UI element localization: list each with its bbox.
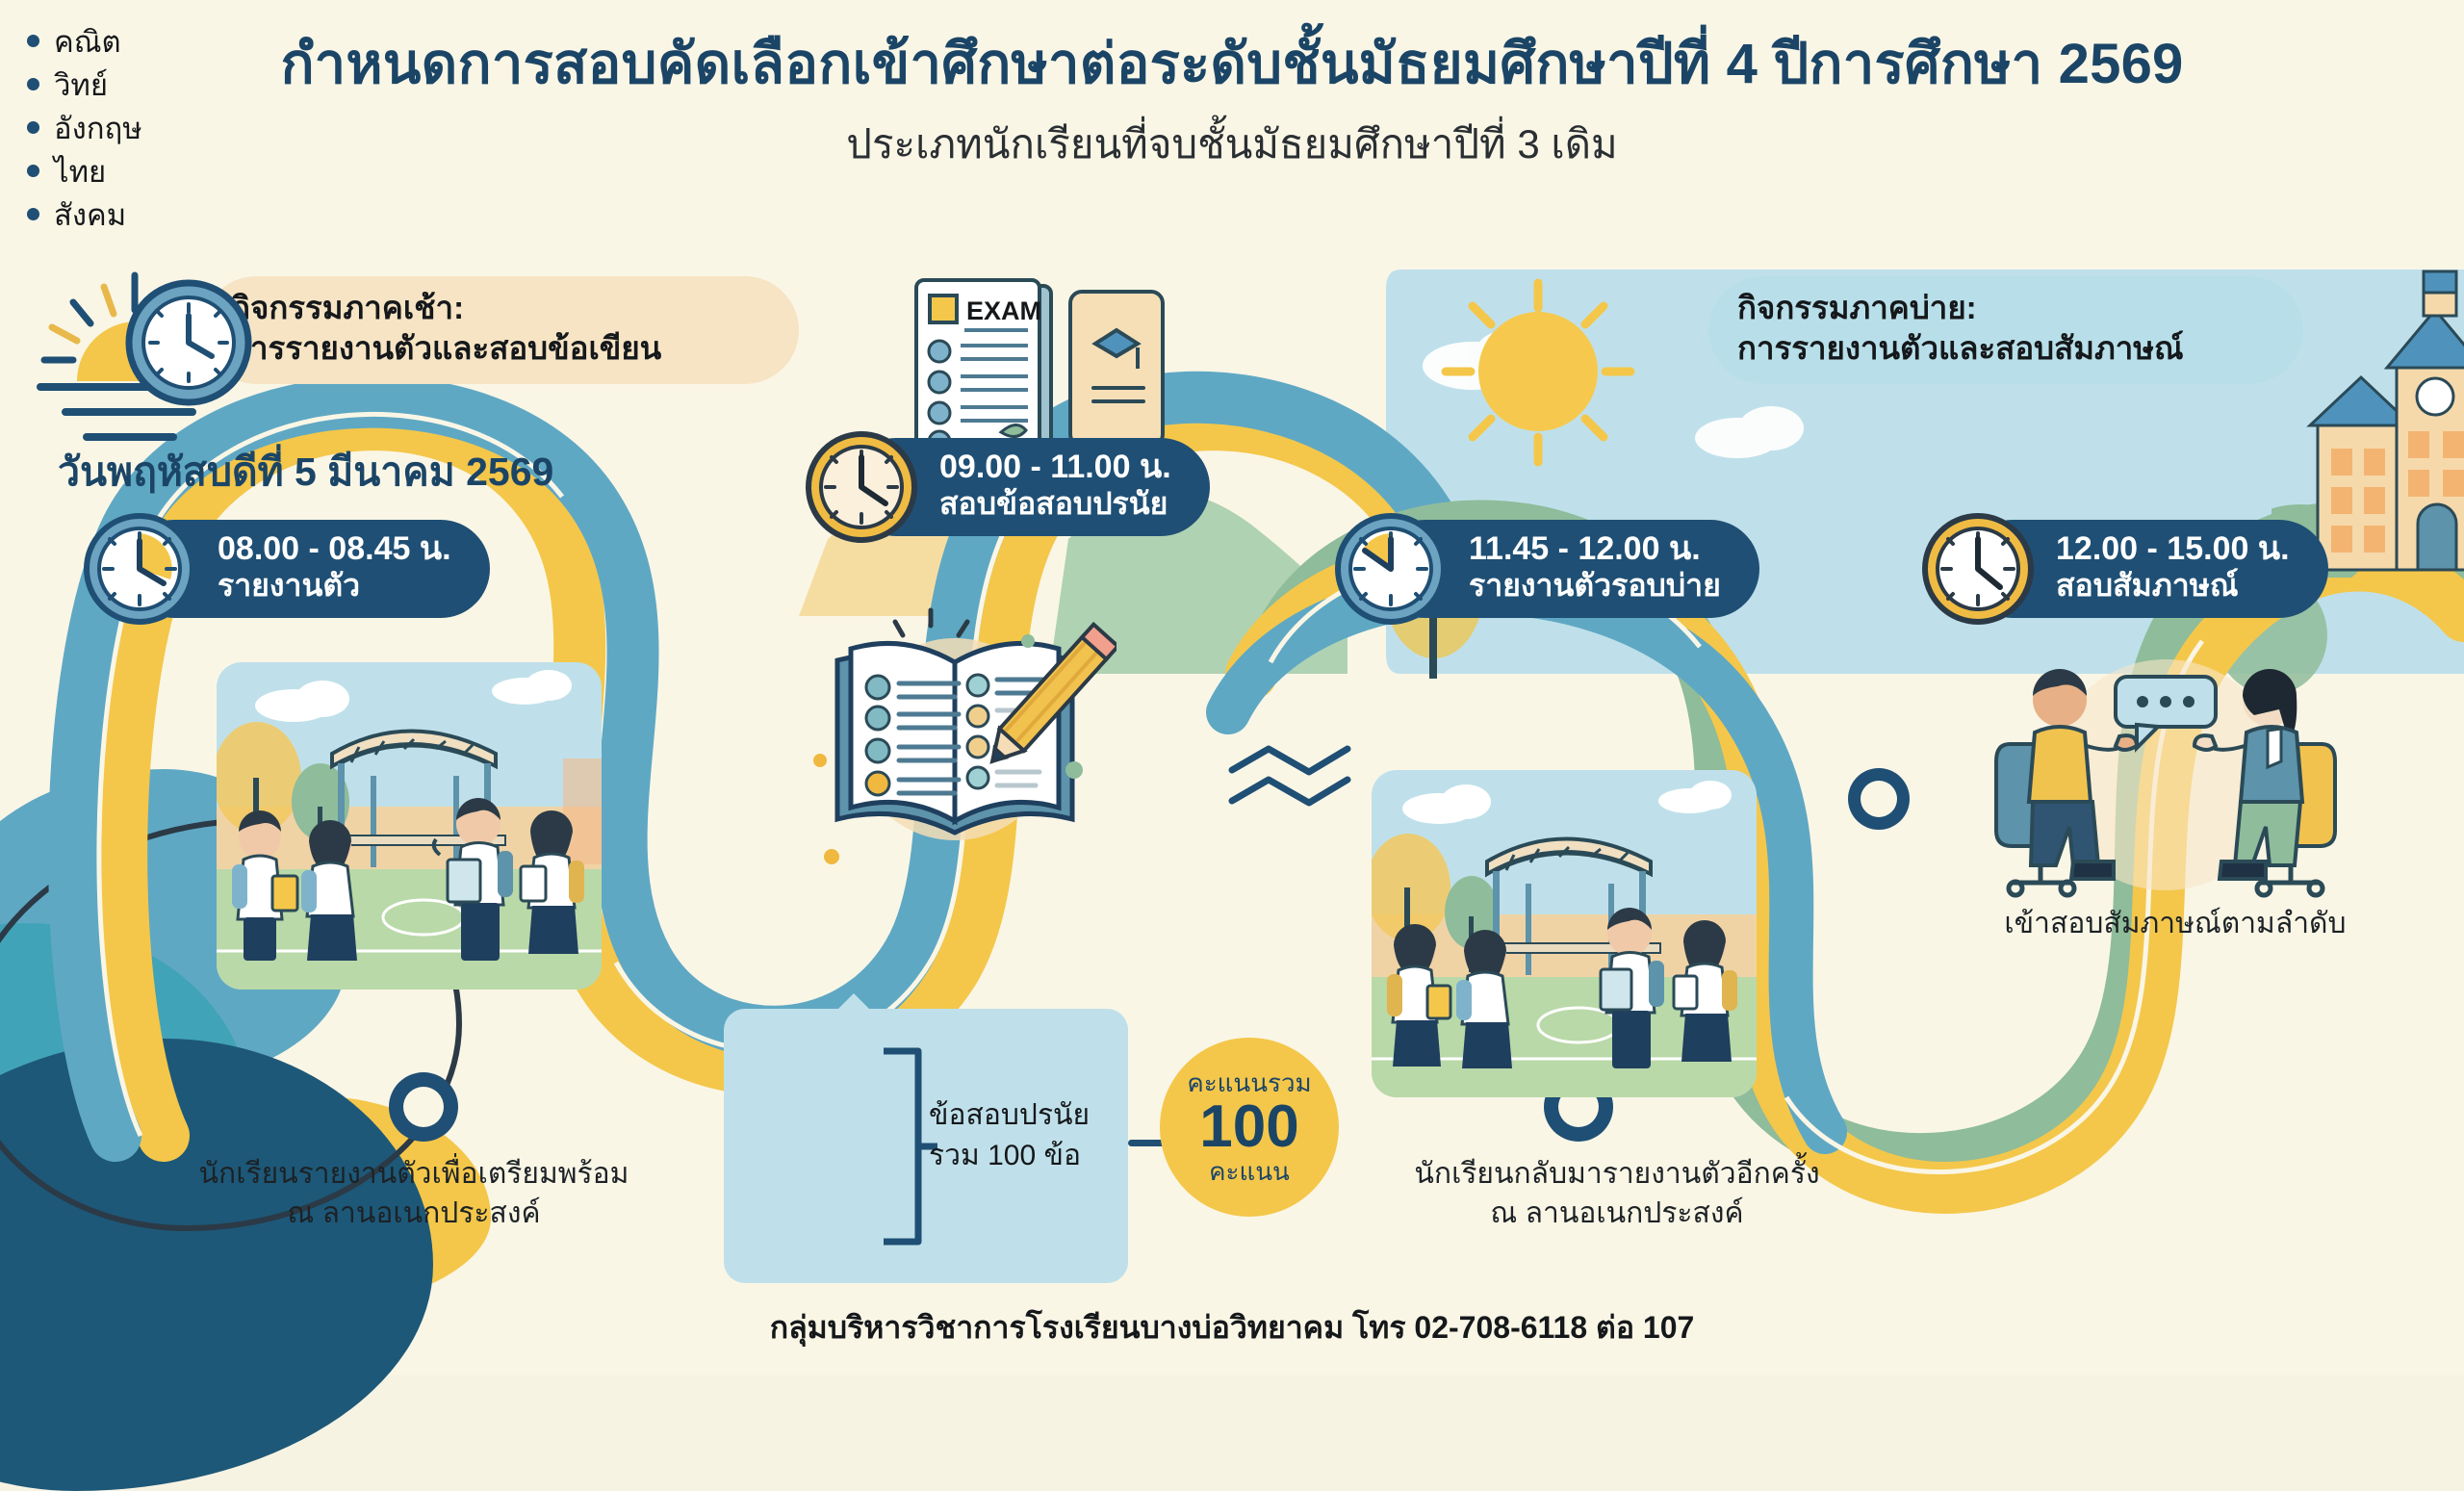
afternoon-banner-line2: การรายงานตัวและสอบสัมภาษณ์	[1737, 328, 2184, 369]
morning-scene-illustration	[217, 662, 602, 990]
score-value: 100	[1199, 1095, 1298, 1158]
timeline-item-2: 09.00 - 11.00 น. สอบข้อสอบปรนัย	[847, 438, 1210, 536]
header-block: กำหนดการสอบคัดเลือกเข้าศึกษาต่อระดับชั้น…	[0, 33, 2464, 176]
timeline-activity-4: สอบสัมภาษณ์	[2056, 568, 2290, 604]
afternoon-scene-illustration	[1372, 770, 1757, 1097]
timeline-node	[1848, 768, 1910, 830]
timeline-activity-2: สอบข้อสอบปรนัย	[939, 486, 1171, 523]
list-item: สังคม	[27, 193, 142, 236]
book-pencil-illustration	[808, 604, 1116, 888]
clock-icon	[1334, 512, 1448, 626]
morning-caption-line2: ณ ลานอเนกประสงค์	[135, 1195, 693, 1234]
page-title: กำหนดการสอบคัดเลือกเข้าศึกษาต่อระดับชั้น…	[0, 33, 2464, 97]
exam-note-line1: ข้อสอบปรนัย	[929, 1095, 1090, 1136]
page-subtitle: ประเภทนักเรียนที่จบชั้นมัธยมศึกษาปีที่ 3…	[0, 113, 2464, 176]
exam-date-label: วันพฤหัสบดีที่ 5 มีนาคม 2569	[58, 441, 553, 503]
afternoon-caption: นักเรียนกลับมารายงานตัวอีกครั้ง ณ ลานอเน…	[1338, 1155, 1896, 1233]
sun-icon	[1423, 266, 1654, 482]
timeline-time-1: 08.00 - 08.45 น.	[218, 529, 451, 568]
subject-label: สังคม	[54, 191, 126, 239]
clock-icon	[805, 430, 918, 544]
footer-contact: กลุ่มบริหารวิชาการโรงเรียนบางบ่อวิทยาคม …	[0, 1303, 2464, 1352]
score-label-top: คะแนนรวม	[1187, 1070, 1311, 1095]
timeline-time-3: 11.45 - 12.00 น.	[1469, 529, 1721, 568]
timeline-item-4: 12.00 - 15.00 น. สอบสัมภาษณ์	[1963, 520, 2328, 618]
clock-icon	[83, 512, 196, 626]
timeline-item-1: 08.00 - 08.45 น. รายงานตัว	[125, 520, 490, 618]
interview-illustration	[1973, 640, 2358, 914]
bullet-icon	[27, 208, 39, 220]
infographic-canvas: EXAM	[0, 0, 2464, 1375]
timeline-activity-3: รายงานตัวรอบบ่าย	[1469, 568, 1721, 604]
exam-paper-illustration: EXAM	[905, 274, 1193, 462]
morning-caption-line1: นักเรียนรายงานตัวเพื่อเตรียมพร้อม	[135, 1155, 693, 1195]
score-label-bottom: คะแนน	[1209, 1159, 1290, 1184]
timeline-activity-1: รายงานตัว	[218, 568, 451, 604]
afternoon-section-banner: กิจกรรมภาคบ่าย: การรายงานตัวและสอบสัมภาษ…	[1708, 276, 2303, 384]
exam-note-line2: รวม 100 ข้อ	[929, 1136, 1090, 1176]
afternoon-banner-line1: กิจกรรมภาคบ่าย:	[1737, 288, 2184, 328]
zigzag-divider	[1232, 749, 1347, 803]
afternoon-caption-line2: ณ ลานอเนกประสงค์	[1338, 1195, 1896, 1234]
total-score-badge: คะแนนรวม 100 คะแนน	[1160, 1038, 1339, 1217]
afternoon-caption-line1: นักเรียนกลับมารายงานตัวอีกครั้ง	[1338, 1155, 1896, 1195]
timeline-item-3: 11.45 - 12.00 น. รายงานตัวรอบบ่าย	[1376, 520, 1759, 618]
clock-icon	[1921, 512, 2035, 626]
sunrise-clock-icon	[27, 268, 316, 450]
timeline-time-4: 12.00 - 15.00 น.	[2056, 529, 2290, 568]
exam-note: ข้อสอบปรนัย รวม 100 ข้อ	[929, 1095, 1090, 1176]
exam-label: EXAM	[966, 296, 1041, 325]
timeline-time-2: 09.00 - 11.00 น.	[939, 448, 1171, 486]
interview-caption: เข้าสอบสัมภาษณ์ตามลำดับ	[1906, 905, 2445, 944]
timeline-node	[389, 1072, 458, 1142]
morning-caption: นักเรียนรายงานตัวเพื่อเตรียมพร้อม ณ ลานอ…	[135, 1155, 693, 1233]
